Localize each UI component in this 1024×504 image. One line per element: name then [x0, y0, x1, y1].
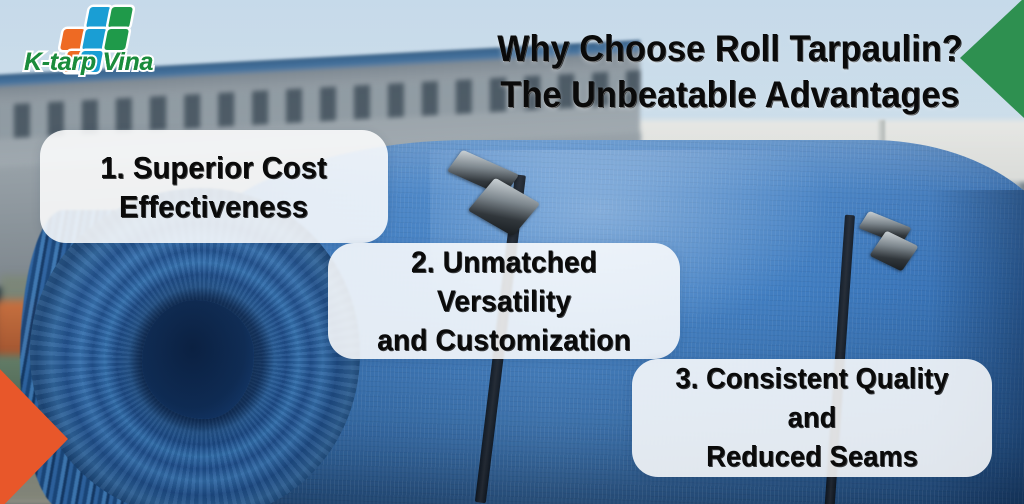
benefit-card-1-line-1: 1. Superior Cost: [101, 150, 328, 185]
benefit-card-2[interactable]: 2. Unmatched Versatility and Customizati…: [328, 243, 680, 359]
benefit-card-1-text: 1. Superior Cost Effectiveness: [88, 148, 341, 226]
page-title: Why Choose Roll Tarpaulin? The Unbeatabl…: [491, 26, 969, 118]
brand-logo[interactable]: K-tarp Vina K-tarp Vina: [14, 5, 174, 90]
benefit-card-3-text: 3. Consistent Quality and Reduced Seams: [643, 360, 981, 477]
benefit-card-3[interactable]: 3. Consistent Quality and Reduced Seams: [632, 359, 992, 477]
page-title-line-2: The Unbeatable Advantages: [491, 72, 969, 118]
benefit-card-2-line-2: and Customization: [377, 324, 631, 357]
benefit-card-3-line-2: Reduced Seams: [706, 441, 918, 473]
benefit-card-2-line-1: 2. Unmatched Versatility: [411, 246, 597, 318]
benefit-card-1-line-2: Effectiveness: [119, 189, 308, 224]
logo-wordmark: K-tarp Vina: [14, 45, 163, 81]
tile-green-top-icon: [108, 7, 133, 28]
benefit-card-1[interactable]: 1. Superior Cost Effectiveness: [40, 130, 388, 243]
benefit-card-3-line-1: 3. Consistent Quality and: [675, 363, 948, 434]
page-title-line-1: Why Choose Roll Tarpaulin?: [491, 26, 969, 72]
poster-canvas: K-tarp Vina K-tarp Vina Why Choose Roll …: [0, 0, 1024, 504]
tile-blue-top-icon: [86, 7, 111, 28]
benefit-card-2-text: 2. Unmatched Versatility and Customizati…: [339, 243, 670, 360]
